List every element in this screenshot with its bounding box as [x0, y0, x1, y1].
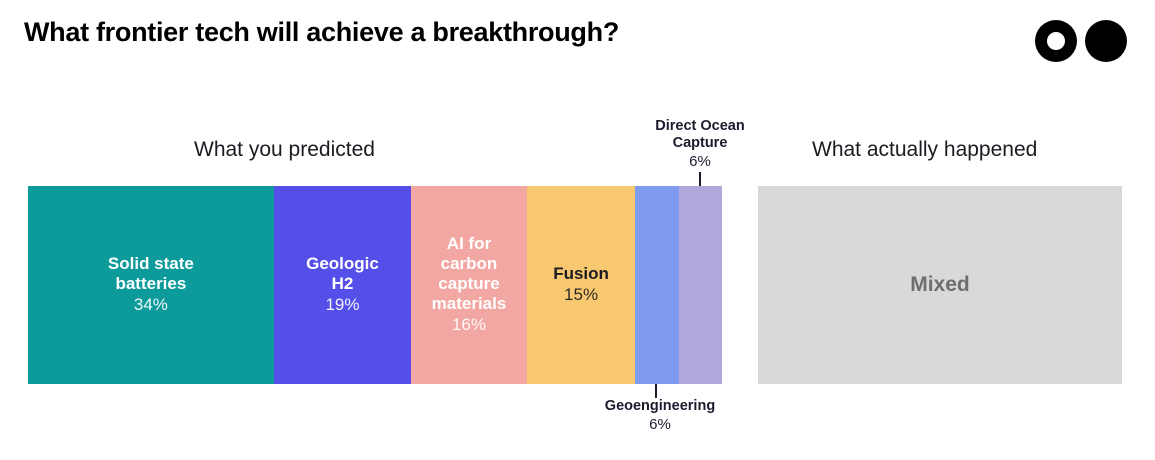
bar-segment-label: Fusion	[547, 264, 615, 284]
leader-line-direct-ocean-capture	[699, 172, 701, 186]
actual-result-box: Mixed	[758, 186, 1122, 384]
page-title: What frontier tech will achieve a breakt…	[24, 17, 619, 48]
callout-geoengineering: Geoengineering 6%	[580, 398, 740, 434]
bar-segment-geoengineering	[635, 186, 678, 384]
bar-segment-ai-for-carbon-capture-materials: AI for carbon capture materials16%	[411, 186, 527, 384]
callout-label-line2: Capture	[620, 135, 780, 152]
page-header: What frontier tech will achieve a breakt…	[0, 0, 1155, 80]
leader-line-geoengineering	[655, 384, 657, 398]
callout-label-line1: Direct Ocean	[620, 118, 780, 135]
callout-percentage: 6%	[580, 415, 740, 434]
bar-segment-percentage: 16%	[452, 314, 486, 336]
brand-logo	[1035, 20, 1127, 62]
predicted-stacked-bar: Solid state batteries34%Geologic H219%AI…	[28, 186, 722, 384]
bar-segment-label: Solid state batteries	[102, 254, 200, 294]
bar-segment-direct-ocean-capture	[679, 186, 722, 384]
callout-percentage: 6%	[620, 152, 780, 171]
bar-segment-percentage: 15%	[564, 284, 598, 306]
predicted-panel-heading: What you predicted	[194, 138, 375, 162]
actual-panel-heading: What actually happened	[812, 138, 1037, 162]
bar-segment-label: Geologic H2	[300, 254, 385, 294]
logo-dot-icon	[1085, 20, 1127, 62]
bar-segment-percentage: 19%	[325, 294, 359, 316]
bar-segment-solid-state-batteries: Solid state batteries34%	[28, 186, 274, 384]
bar-segment-percentage: 34%	[134, 294, 168, 316]
logo-ring-icon	[1035, 20, 1077, 62]
bar-segment-label: AI for carbon capture materials	[426, 234, 513, 314]
bar-segment-geologic-h2: Geologic H219%	[274, 186, 411, 384]
actual-result-label: Mixed	[910, 273, 970, 297]
callout-label: Geoengineering	[580, 398, 740, 415]
bar-segment-fusion: Fusion15%	[527, 186, 635, 384]
callout-direct-ocean-capture: Direct Ocean Capture 6%	[620, 118, 780, 171]
